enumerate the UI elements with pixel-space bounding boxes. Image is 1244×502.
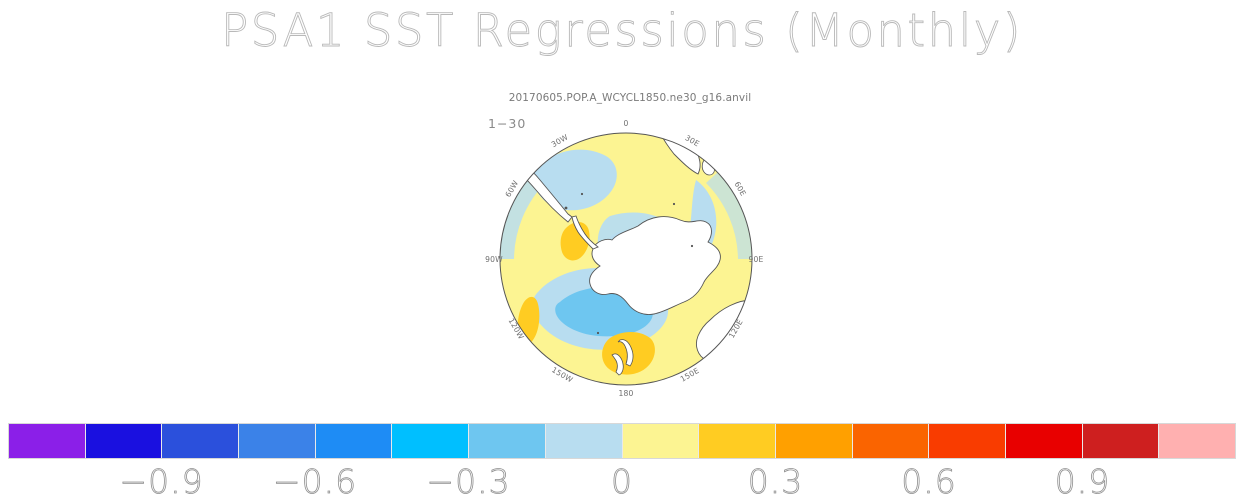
colorbar-tick-label-0: −0.9	[119, 462, 203, 501]
island-marker-2	[581, 193, 583, 195]
map-plot-panel: 20170605.POP.A_WCYCL1850.ne30_g16.anvil …	[460, 86, 800, 396]
colorbar-tick-label-3: 0	[611, 462, 633, 501]
colorbar-swatch-9	[699, 424, 776, 458]
colorbar-swatch-4	[316, 424, 393, 458]
page-title: PSA1 SST Regressions (Monthly)	[0, 4, 1244, 57]
colorbar-swatch-6	[469, 424, 546, 458]
colorbar-swatch-10	[776, 424, 853, 458]
colorbar-swatch-15	[1159, 424, 1235, 458]
island-marker-1	[565, 207, 568, 210]
lon-label-30e: 30E	[683, 133, 701, 148]
colorbar-swatch-0	[9, 424, 86, 458]
colorbar-tick-label-6: 0.9	[1055, 462, 1110, 501]
colorbar-swatch-12	[929, 424, 1006, 458]
colorbar-swatch-3	[239, 424, 316, 458]
colorbar-strip	[8, 423, 1236, 459]
colorbar-swatch-8	[623, 424, 700, 458]
colorbar-swatch-13	[1006, 424, 1083, 458]
colorbar-tick-label-4: 0.3	[748, 462, 803, 501]
island-marker-5	[597, 332, 599, 334]
colorbar-tick-labels: −0.9−0.6−0.300.30.60.9	[0, 462, 1244, 502]
map-data-layer	[500, 124, 766, 385]
colorbar-tick-label-1: −0.6	[273, 462, 357, 501]
lon-label-90w: 90W	[485, 255, 503, 264]
colorbar-swatch-1	[86, 424, 163, 458]
landmass-tasmania	[725, 366, 736, 377]
colorbar-swatch-11	[853, 424, 930, 458]
figure-root: PSA1 SST Regressions (Monthly) 20170605.…	[0, 0, 1244, 502]
colorbar-swatch-7	[546, 424, 623, 458]
island-marker-4	[691, 245, 693, 247]
colorbar-swatch-14	[1083, 424, 1160, 458]
colorbar-tick-label-5: 0.6	[901, 462, 956, 501]
colorbar-swatch-5	[392, 424, 469, 458]
colorbar-tick-label-2: −0.3	[426, 462, 510, 501]
colorbar-panel: −0.9−0.6−0.300.30.60.9	[0, 418, 1244, 502]
lon-label-90e: 90E	[748, 255, 763, 264]
colorbar-swatch-2	[162, 424, 239, 458]
lon-label-180: 180	[618, 389, 633, 396]
lon-label-0: 0	[623, 119, 628, 128]
lon-label-30w: 30W	[550, 132, 570, 149]
south-polar-map: 0 30E 60E 90E 120E 150E 180 150W 120W 90…	[460, 86, 800, 396]
island-marker-3	[673, 203, 675, 205]
